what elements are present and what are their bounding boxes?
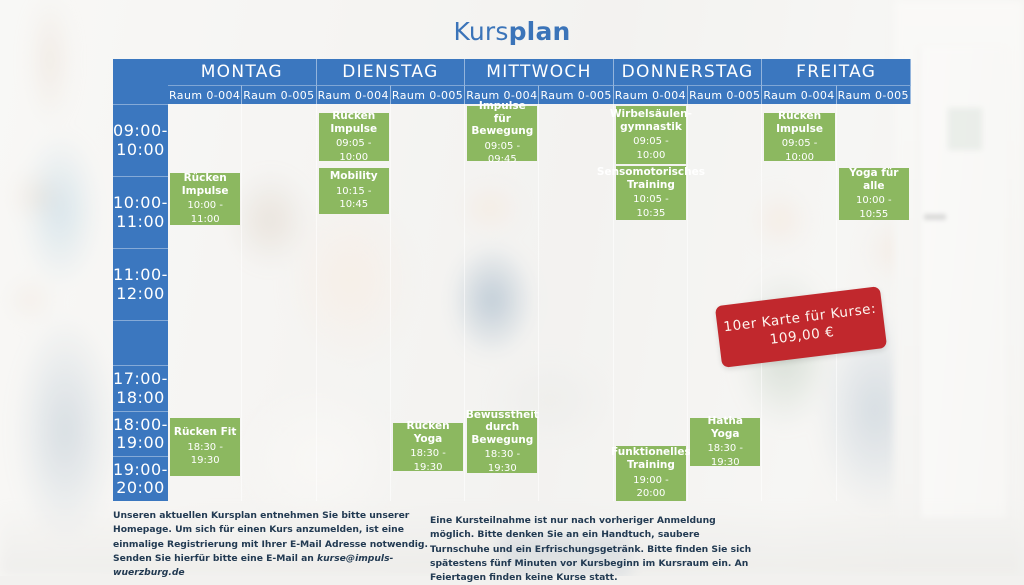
day-header-label: Donnerstag xyxy=(622,62,754,82)
note-registration: Unseren aktuellen Kursplan entnehmen Sie… xyxy=(113,509,431,580)
time-label-6: 19:00-20:00 xyxy=(113,456,168,501)
schedule-slot xyxy=(614,248,688,320)
schedule-slot xyxy=(242,320,316,365)
schedule-slot xyxy=(539,365,613,411)
schedule-slot xyxy=(317,411,391,456)
course-name: Rücken Yoga xyxy=(396,420,460,445)
time-label-5: 18:00-19:00 xyxy=(113,411,168,456)
course-block[interactable]: Rücken Impulse10:00 - 11:00 xyxy=(170,173,240,225)
schedule-slot xyxy=(317,320,391,365)
schedule-slot xyxy=(168,248,242,320)
course-name: Yoga für alle xyxy=(842,167,906,192)
day-header-donnerstag: Donnerstag xyxy=(614,59,763,85)
day-header-label: Mittwoch xyxy=(486,62,591,82)
page-title-bold: plan xyxy=(509,17,571,46)
room-header: Raum 0-004 xyxy=(614,85,688,104)
room-header: Raum 0-005 xyxy=(539,85,613,104)
schedule-slot xyxy=(465,320,539,365)
course-name: Rücken Impulse xyxy=(173,172,237,197)
room-header: Raum 0-005 xyxy=(837,85,911,104)
schedule-slot xyxy=(242,365,316,411)
day-header-label: Dienstag xyxy=(342,62,438,82)
course-name: Bewusstheit durch Bewegung xyxy=(466,409,539,447)
schedule-slot xyxy=(762,411,836,456)
schedule-corner-2 xyxy=(113,85,168,104)
course-name: Hatha Yoga xyxy=(693,415,757,440)
course-time: 18:30 - 19:30 xyxy=(396,447,460,474)
course-name: Sensomotorisches Training xyxy=(597,166,705,191)
schedule-slot xyxy=(168,320,242,365)
schedule-slot xyxy=(391,320,465,365)
room-header: Raum 0-005 xyxy=(391,85,465,104)
course-block[interactable]: Funktionelles Training19:00 - 20:00 xyxy=(616,446,686,501)
course-block[interactable]: Impulse für Bewegung09:05 - 09:45 xyxy=(467,106,537,161)
time-label-0: 09:00-10:00 xyxy=(113,104,168,176)
schedule-slot xyxy=(539,248,613,320)
room-header: Raum 0-005 xyxy=(242,85,316,104)
course-time: 19:00 - 20:00 xyxy=(619,474,683,501)
schedule-slot xyxy=(762,176,836,248)
course-block[interactable]: Rücken Yoga18:30 - 19:30 xyxy=(393,423,463,471)
schedule-slot xyxy=(391,104,465,176)
course-time: 09:05 - 09:45 xyxy=(470,140,534,167)
day-header-label: Freitag xyxy=(796,62,876,82)
course-name: Mobility xyxy=(330,170,378,183)
schedule-slot xyxy=(242,411,316,456)
schedule-slot xyxy=(465,176,539,248)
course-time: 09:05 - 10:00 xyxy=(322,137,386,164)
room-header: Raum 0-004 xyxy=(317,85,391,104)
schedule-slot xyxy=(242,104,316,176)
schedule-slot xyxy=(317,365,391,411)
course-block[interactable]: Mobility10:15 - 10:45 xyxy=(319,168,389,214)
course-name: Funktionelles Training xyxy=(611,446,691,471)
schedule-slot xyxy=(762,456,836,501)
course-time: 10:15 - 10:45 xyxy=(322,185,386,212)
course-block[interactable]: Yoga für alle10:00 - 10:55 xyxy=(839,168,909,220)
day-header-freitag: Freitag xyxy=(762,59,911,85)
course-time: 18:30 - 19:30 xyxy=(470,448,534,475)
schedule-slot xyxy=(168,365,242,411)
time-label-4: 17:00-18:00 xyxy=(113,365,168,411)
course-block[interactable]: Bewusstheit durch Bewegung18:30 - 19:30 xyxy=(467,411,537,473)
course-time: 18:30 - 19:30 xyxy=(693,442,757,469)
day-header-label: Montag xyxy=(201,62,283,82)
course-block[interactable]: Rücken Impulse09:05 - 10:00 xyxy=(764,113,834,161)
day-header-montag: Montag xyxy=(168,59,317,85)
schedule-slot xyxy=(614,365,688,411)
room-header: Raum 0-004 xyxy=(762,85,836,104)
course-name: Rücken Impulse xyxy=(322,110,386,135)
course-block[interactable]: Rücken Fit18:30 - 19:30 xyxy=(170,418,240,476)
schedule-slot xyxy=(242,456,316,501)
room-header: Raum 0-005 xyxy=(688,85,762,104)
schedule-slot xyxy=(391,248,465,320)
schedule-slot xyxy=(539,320,613,365)
schedule-slot xyxy=(242,176,316,248)
schedule-slot xyxy=(391,365,465,411)
schedule-slot xyxy=(465,365,539,411)
schedule-slot xyxy=(837,365,911,411)
schedule-slot xyxy=(168,104,242,176)
course-block[interactable]: Rücken Impulse09:05 - 10:00 xyxy=(319,113,389,161)
course-time: 09:05 - 10:00 xyxy=(767,137,831,164)
day-header-dienstag: Dienstag xyxy=(317,59,466,85)
course-name: Rücken Fit xyxy=(174,426,237,439)
time-label-2: 11:00-12:00 xyxy=(113,248,168,320)
schedule-slot xyxy=(465,248,539,320)
note-participation: Eine Kursteilnahme ist nur nach vorherig… xyxy=(430,514,760,585)
schedule-slot xyxy=(317,248,391,320)
time-label-1: 10:00-11:00 xyxy=(113,176,168,248)
course-time: 10:00 - 10:55 xyxy=(842,194,906,221)
course-block[interactable]: Wirbelsäulen- gymnastik09:05 - 10:00 xyxy=(616,106,686,164)
schedule-table: MontagDienstagMittwochDonnerstagFreitagR… xyxy=(113,59,911,501)
course-time: 10:00 - 11:00 xyxy=(173,199,237,226)
course-name: Impulse für Bewegung xyxy=(470,100,534,138)
schedule-slot xyxy=(391,176,465,248)
schedule-slot xyxy=(837,411,911,456)
schedule-slot xyxy=(614,320,688,365)
schedule-slot xyxy=(837,456,911,501)
schedule-slot xyxy=(242,248,316,320)
time-label-3 xyxy=(113,320,168,365)
course-time: 09:05 - 10:00 xyxy=(619,135,683,162)
course-time: 10:05 - 10:35 xyxy=(619,193,683,220)
schedule-slot xyxy=(762,365,836,411)
schedule-slot xyxy=(317,456,391,501)
page-title: Kursplan xyxy=(0,17,1024,46)
course-name: Rücken Impulse xyxy=(767,110,831,135)
day-header-mittwoch: Mittwoch xyxy=(465,59,614,85)
schedule-slot xyxy=(688,365,762,411)
schedule-slot xyxy=(539,456,613,501)
course-block[interactable]: Hatha Yoga18:30 - 19:30 xyxy=(690,418,760,466)
course-block[interactable]: Sensomotorisches Training10:05 - 10:35 xyxy=(616,166,686,220)
course-time: 18:30 - 19:30 xyxy=(173,441,237,468)
schedule-slot xyxy=(539,411,613,456)
room-header: Raum 0-004 xyxy=(168,85,242,104)
schedule-slot xyxy=(837,104,911,176)
course-name: Wirbelsäulen- gymnastik xyxy=(610,108,692,133)
page-title-light: Kurs xyxy=(453,17,508,46)
schedule-corner xyxy=(113,59,168,85)
